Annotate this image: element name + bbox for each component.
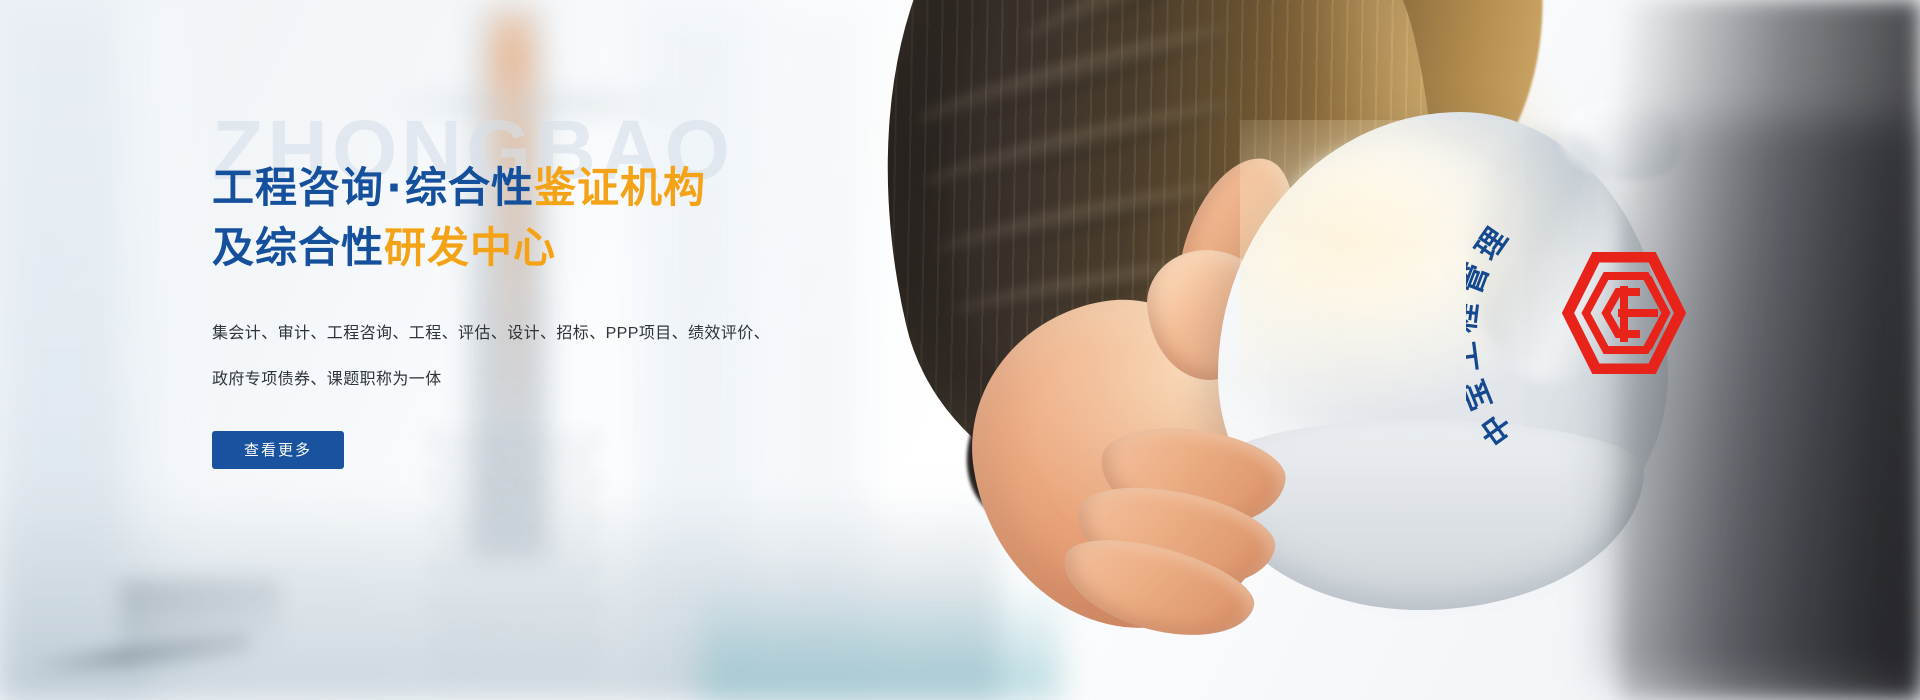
helmet-logo: 中宝工程管理 [1470, 172, 1740, 452]
view-more-button[interactable]: 查看更多 [212, 431, 344, 469]
description-line-2: 政府专项债券、课题职称为一体 [212, 357, 812, 403]
helmet-logo-arc-label: 中宝工程管理 [1466, 216, 1520, 451]
headline-segment-blue-3: 及综合性 [212, 223, 384, 272]
headline-line-1: 工程咨询·综合性鉴证机构 [212, 158, 932, 218]
description-line-1: 集会计、审计、工程咨询、工程、评估、设计、招标、PPP项目、绩效评价、 [212, 311, 812, 357]
headline-segment-blue-2: 综合性 [405, 163, 534, 212]
headline-segment-orange: 鉴证机构 [534, 163, 706, 212]
hexagon-logo-mark [1562, 252, 1686, 374]
headline-line-2: 及综合性研发中心 [212, 218, 932, 278]
steel-beam [120, 580, 280, 700]
headline-segment-orange-2: 研发中心 [384, 223, 556, 272]
ground-teal-band [700, 580, 1060, 700]
hero-banner: 中宝工程管理 ZHONGBAO [0, 0, 1920, 700]
headline-separator-dot: · [384, 163, 405, 212]
banner-description: 集会计、审计、工程咨询、工程、评估、设计、招标、PPP项目、绩效评价、 政府专项… [212, 311, 812, 403]
banner-content: 工程咨询·综合性鉴证机构 及综合性研发中心 集会计、审计、工程咨询、工程、评估、… [212, 158, 932, 469]
headline-segment-blue: 工程咨询 [212, 163, 384, 212]
svg-text:中宝工程管理: 中宝工程管理 [1466, 216, 1520, 451]
